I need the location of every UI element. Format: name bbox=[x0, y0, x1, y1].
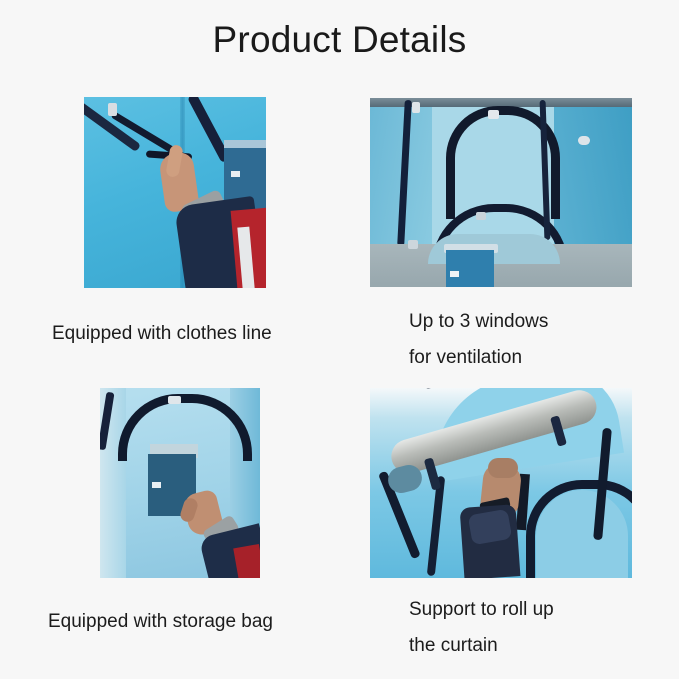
pocket-label-tag bbox=[450, 271, 459, 277]
tent-clip bbox=[476, 212, 486, 220]
tent-clip bbox=[168, 396, 181, 404]
page-title: Product Details bbox=[0, 19, 679, 61]
feature-photo-windows bbox=[370, 98, 632, 287]
feature-photo-storage-bag bbox=[100, 388, 260, 578]
pocket-label-tag bbox=[231, 171, 240, 177]
line-clip bbox=[108, 103, 117, 116]
tent-clip bbox=[488, 110, 499, 119]
feature-caption-windows: Up to 3 windows for ventilation bbox=[409, 304, 548, 376]
pocket-label-tag bbox=[152, 482, 161, 488]
door-panel bbox=[536, 490, 628, 578]
feature-photo-roll-up-curtain bbox=[370, 388, 632, 578]
jacket-red-panel bbox=[233, 544, 260, 578]
feature-caption-roll-up-curtain: Support to roll up the curtain bbox=[409, 592, 554, 664]
storage-pocket bbox=[446, 250, 494, 287]
product-details-page: Product Details Equipped with clothes li… bbox=[0, 0, 679, 679]
fingers bbox=[488, 458, 518, 478]
tent-clip bbox=[578, 136, 590, 145]
tent-clip bbox=[412, 102, 420, 113]
feature-photo-clothes-line bbox=[84, 97, 266, 288]
feature-caption-storage-bag: Equipped with storage bag bbox=[48, 604, 273, 640]
tent-clip bbox=[408, 240, 418, 249]
feature-caption-clothes-line: Equipped with clothes line bbox=[52, 316, 272, 352]
